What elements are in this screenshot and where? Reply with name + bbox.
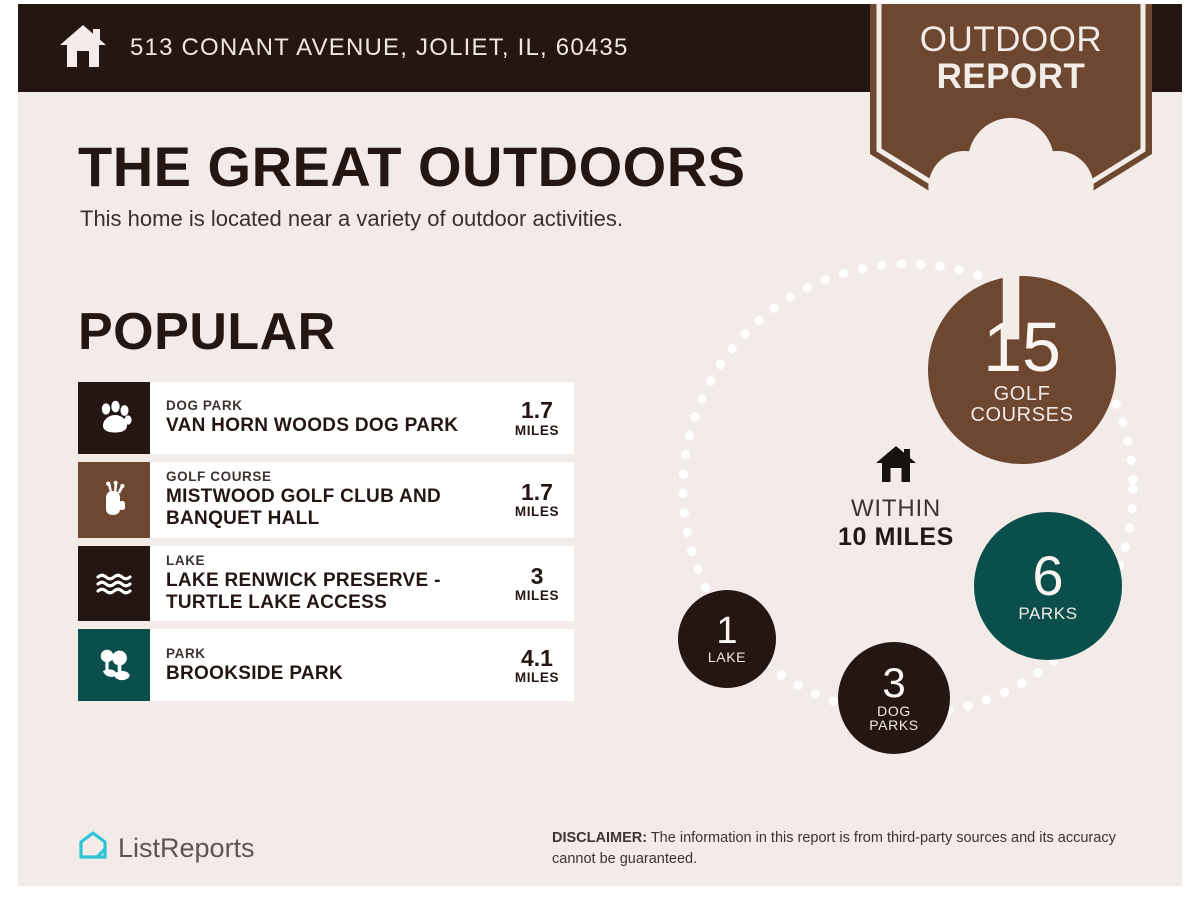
distance-unit: MILES	[515, 670, 559, 685]
stat-label: LAKE	[708, 650, 746, 665]
stat-label: PARKS	[1018, 605, 1077, 623]
popular-list: DOG PARK VAN HORN WOODS DOG PARK 1.7 MIL…	[78, 382, 574, 709]
trees-icon	[78, 629, 150, 701]
golf-bag-icon	[78, 462, 150, 538]
list-item[interactable]: PARK BROOKSIDE PARK 4.1 MILES	[78, 629, 574, 701]
list-item-distance: 3 MILES	[508, 546, 574, 622]
property-address: 513 CONANT AVENUE, JOLIET, IL, 60435	[130, 34, 629, 62]
page-title: THE GREAT OUTDOORS	[78, 134, 746, 199]
paw-icon	[78, 382, 150, 454]
waves-icon	[78, 546, 150, 622]
distance-value: 1.7	[521, 480, 553, 504]
home-icon	[806, 444, 986, 484]
diagram-center: WITHIN 10 MILES	[806, 444, 986, 551]
stat-bubble-lake[interactable]: 1 LAKE	[678, 590, 776, 688]
center-line1: WITHIN	[806, 496, 986, 523]
stat-count: 1	[716, 613, 737, 649]
list-item[interactable]: DOG PARK VAN HORN WOODS DOG PARK 1.7 MIL…	[78, 382, 574, 454]
list-item[interactable]: GOLF COURSE MISTWOOD GOLF CLUB AND BANQU…	[78, 462, 574, 538]
stat-count: 6	[1032, 549, 1063, 602]
list-item-category: DOG PARK	[166, 398, 458, 415]
list-item-distance: 1.7 MILES	[508, 462, 574, 538]
distance-unit: MILES	[515, 504, 559, 519]
list-item-name: LAKE RENWICK PRESERVE - TURTLE LAKE ACCE…	[166, 570, 504, 615]
listreports-logo-text: ListReports	[118, 833, 255, 864]
distance-value: 1.7	[521, 398, 553, 422]
stat-label: DOG PARKS	[869, 704, 918, 734]
list-item-text: PARK BROOKSIDE PARK	[150, 629, 508, 701]
list-item[interactable]: LAKE LAKE RENWICK PRESERVE - TURTLE LAKE…	[78, 546, 574, 622]
distance-unit: MILES	[515, 588, 559, 603]
distance-unit: MILES	[515, 423, 559, 438]
popular-heading: POPULAR	[78, 302, 336, 362]
stat-label-line2: PARKS	[869, 718, 918, 733]
home-icon	[58, 23, 108, 74]
list-item-name: BROOKSIDE PARK	[166, 663, 343, 685]
listreports-logo-icon	[78, 830, 108, 867]
page-subtitle: This home is located near a variety of o…	[80, 206, 623, 232]
list-item-category: LAKE	[166, 553, 504, 570]
stat-bubble-dog-parks[interactable]: 3 DOG PARKS	[838, 642, 950, 754]
stat-label-line1: DOG	[869, 704, 918, 719]
list-item-name: VAN HORN WOODS DOG PARK	[166, 415, 458, 437]
badge-title: OUTDOOR REPORT	[870, 22, 1152, 96]
center-line2: 10 MILES	[806, 523, 986, 551]
outdoor-report-badge: OUTDOOR REPORT	[870, 4, 1152, 242]
list-item-text: LAKE LAKE RENWICK PRESERVE - TURTLE LAKE…	[150, 546, 508, 622]
distance-value: 4.1	[521, 646, 553, 670]
disclaimer-label: DISCLAIMER:	[552, 830, 647, 846]
listreports-logo[interactable]: ListReports	[78, 830, 255, 867]
disclaimer: DISCLAIMER: The information in this repo…	[552, 828, 1152, 870]
report-page: 513 CONANT AVENUE, JOLIET, IL, 60435 OUT…	[0, 0, 1200, 900]
list-item-category: GOLF COURSE	[166, 469, 504, 486]
list-item-distance: 4.1 MILES	[508, 629, 574, 701]
badge-line1: OUTDOOR	[870, 22, 1152, 59]
list-item-distance: 1.7 MILES	[508, 382, 574, 454]
badge-line2: REPORT	[870, 59, 1152, 96]
list-item-text: GOLF COURSE MISTWOOD GOLF CLUB AND BANQU…	[150, 462, 508, 538]
stat-bubble-parks[interactable]: 6 PARKS	[974, 512, 1122, 660]
stat-label-line1: GOLF	[970, 384, 1073, 405]
list-item-name: MISTWOOD GOLF CLUB AND BANQUET HALL	[166, 486, 504, 531]
stat-count: 3	[882, 663, 905, 703]
stat-label-line2: COURSES	[970, 405, 1073, 426]
list-item-category: PARK	[166, 646, 343, 663]
stat-label: GOLF COURSES	[970, 384, 1073, 426]
report-sheet: 513 CONANT AVENUE, JOLIET, IL, 60435 OUT…	[18, 4, 1182, 886]
list-item-text: DOG PARK VAN HORN WOODS DOG PARK	[150, 382, 508, 454]
distance-value: 3	[531, 564, 544, 588]
